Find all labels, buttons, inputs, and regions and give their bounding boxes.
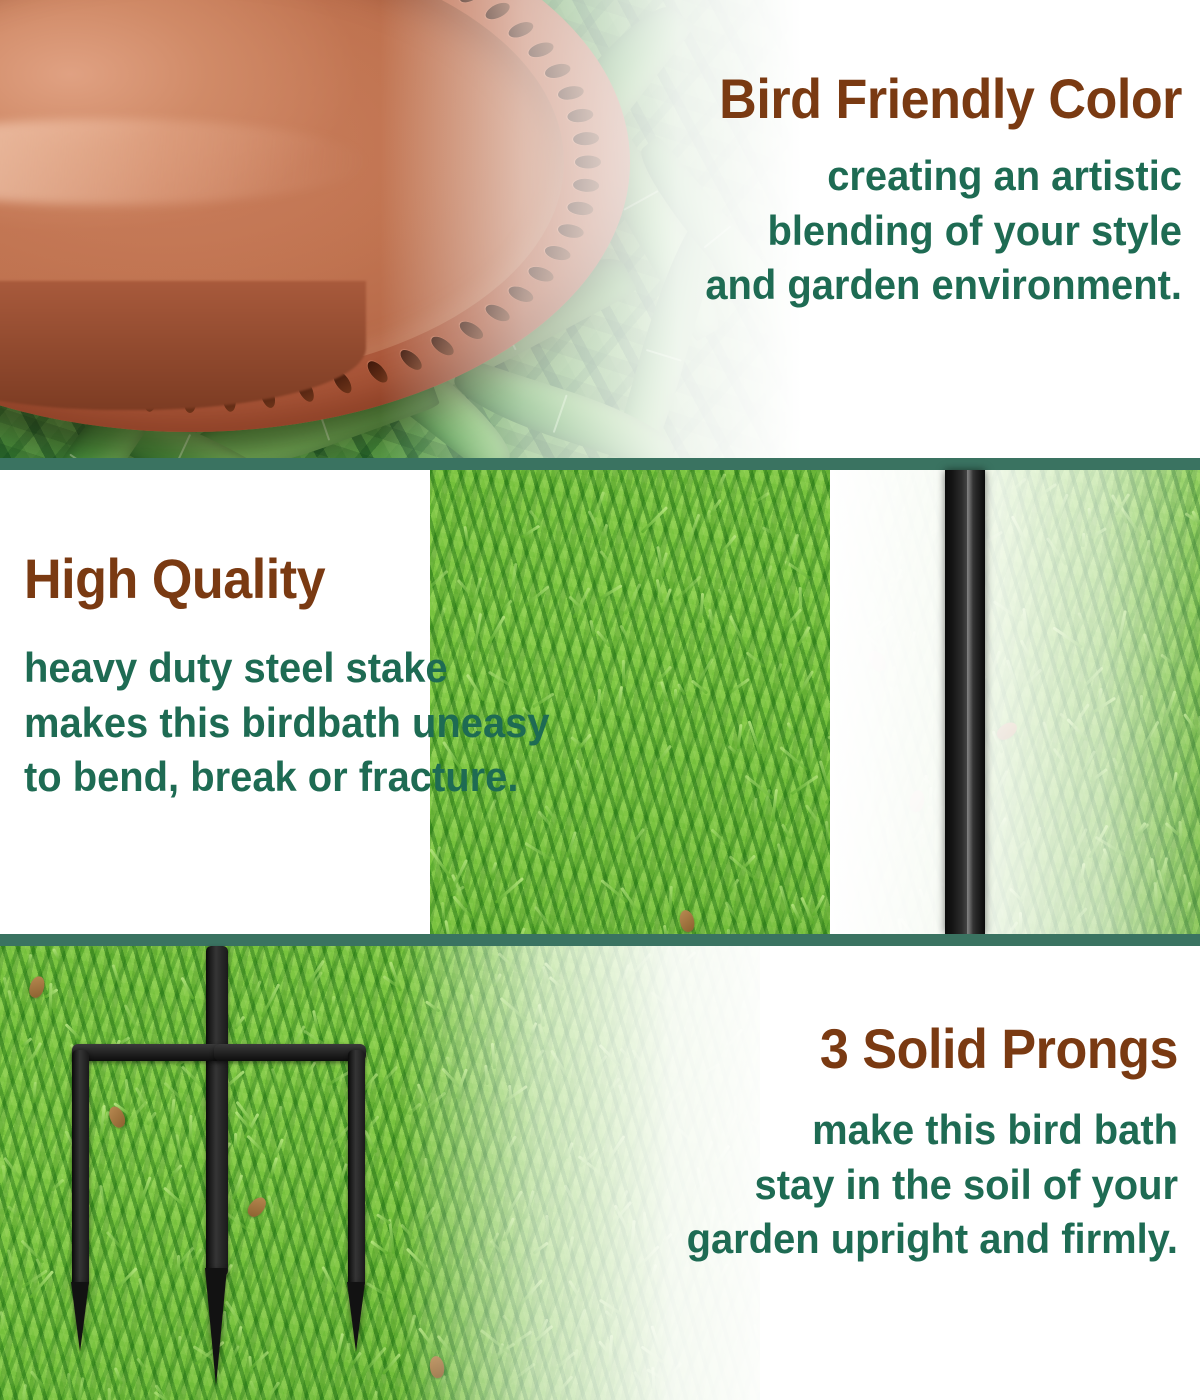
grass-blade <box>787 722 795 734</box>
grass-blade <box>1052 626 1082 648</box>
grass-blade <box>929 787 933 806</box>
grass-blade <box>568 1280 582 1302</box>
grass-blade <box>586 1161 613 1184</box>
grass-blade <box>846 912 857 925</box>
grass-blade <box>780 746 808 771</box>
grass-blade <box>992 770 1008 798</box>
grass-blade <box>827 735 846 748</box>
grass-blade <box>1011 515 1030 549</box>
panel-3-headline: 3 Solid Prongs <box>657 1020 1178 1077</box>
grass-blade <box>1116 610 1127 647</box>
grass-blade <box>812 894 825 916</box>
grass-blade <box>656 579 664 603</box>
grass-blade <box>748 721 762 755</box>
bowl-drain-hole <box>527 40 556 60</box>
bowl-drain-hole <box>544 244 572 263</box>
grass-blade <box>1163 690 1177 724</box>
grass-blade <box>797 670 814 697</box>
grass-blade <box>1184 713 1199 732</box>
grass-blade <box>754 1323 760 1342</box>
panel-1-body-line-3: and garden environment. <box>631 258 1182 313</box>
grass-blade <box>566 1142 574 1159</box>
bowl-drain-hole <box>567 108 594 124</box>
right-arm-horizontal <box>214 1044 366 1061</box>
birdbath-bowl <box>0 0 630 432</box>
grass-blade <box>711 829 729 846</box>
grass-blade <box>720 535 737 554</box>
grass-blade <box>1119 505 1142 536</box>
grass-blade <box>919 888 929 914</box>
center-shaft <box>206 946 228 1276</box>
grass-blade <box>520 525 539 539</box>
grass-blade <box>566 831 577 857</box>
bowl-drain-hole <box>483 301 512 324</box>
feature-text-three-solid-prongs: 3 Solid Prongs make this bird bath stay … <box>618 1020 1178 1267</box>
grass-blade <box>1080 666 1104 691</box>
grass-blade <box>1053 748 1071 771</box>
grass-blade <box>671 1362 683 1375</box>
panel-1-body-line-1: creating an artistic <box>631 149 1182 204</box>
grass-blade <box>675 575 702 600</box>
grass-blade <box>444 920 452 934</box>
grass-blade <box>676 683 685 696</box>
grass-blade <box>1027 826 1041 861</box>
panel-2-body-line-1: heavy duty steel stake <box>24 641 613 696</box>
grass-blade <box>892 666 898 684</box>
grass-blade <box>988 651 1001 680</box>
grass-blade <box>833 587 859 605</box>
feature-text-bird-friendly-color: Bird Friendly Color creating an artistic… <box>602 70 1182 313</box>
grass-blade <box>571 1308 587 1342</box>
grass-blade <box>774 663 782 678</box>
grass-blade <box>825 821 830 844</box>
left-arm-vertical <box>72 1050 89 1288</box>
grass-blade <box>831 524 849 540</box>
grass-blade <box>998 817 1007 830</box>
grass-blade <box>746 651 766 668</box>
panel-2-body-line-3: to bend, break or fracture. <box>24 750 613 805</box>
panel-1-headline: Bird Friendly Color <box>643 70 1182 127</box>
grass-blade <box>796 626 811 647</box>
pole-highlight <box>967 470 973 934</box>
grass-blade <box>729 678 750 694</box>
grass-blade <box>729 878 739 891</box>
grass-blade <box>554 1375 574 1397</box>
panel-2-body-line-2: makes this birdbath uneasy <box>24 696 613 751</box>
panel-3-body-line-3: garden upright and firmly. <box>646 1212 1178 1267</box>
grass-blade <box>999 921 1019 934</box>
pole-body <box>945 470 985 934</box>
grass-blade <box>890 687 894 705</box>
grass-blade <box>728 615 746 646</box>
grass-blade <box>1140 720 1160 752</box>
grass-blade <box>1150 858 1156 883</box>
grass-blade <box>717 588 727 601</box>
grass-blade <box>685 514 701 551</box>
grass-blade <box>651 1326 663 1355</box>
grass-blade <box>1153 882 1159 915</box>
grass-blade <box>594 491 605 517</box>
grass-blade <box>519 1279 542 1305</box>
grass-blade <box>1185 902 1191 915</box>
grass-blade <box>1103 848 1111 864</box>
grass-blade <box>870 827 875 856</box>
panel-divider-top <box>0 458 1200 470</box>
grass-blade <box>528 1049 545 1066</box>
grass-blade <box>1071 828 1088 858</box>
grass-blade <box>779 885 790 913</box>
grass-blade <box>1112 757 1123 776</box>
feature-panel-bird-friendly-color: Bird Friendly Color creating an artistic… <box>0 0 1200 458</box>
grass-blade <box>1094 836 1128 858</box>
grass-blade <box>745 775 775 800</box>
grass-blade <box>762 526 776 536</box>
grass-blade <box>677 950 697 968</box>
grass-blade <box>1079 750 1096 778</box>
grass-blade <box>790 904 802 924</box>
grass-blade <box>809 738 813 773</box>
grass-blade <box>900 918 924 934</box>
grass-blade <box>1069 907 1088 927</box>
panel-2-headline: High Quality <box>24 550 601 607</box>
grass-blade <box>1015 840 1026 851</box>
panel-3-body-line-2: stay in the soil of your <box>646 1158 1178 1213</box>
left-arm-horizontal <box>72 1044 222 1061</box>
grass-blade <box>781 823 792 839</box>
grass-blade <box>799 587 803 623</box>
grass-blade <box>513 927 525 934</box>
grass-blade <box>699 593 704 624</box>
grass-blade <box>1022 608 1029 637</box>
grass-blade <box>870 591 885 621</box>
grass-blade <box>565 1237 575 1266</box>
bowl-drain-hole <box>457 318 486 343</box>
bowl-drain-hole <box>573 131 600 146</box>
grass-blade <box>1056 494 1068 519</box>
grass-blade <box>1087 508 1091 521</box>
grass-blade <box>935 805 944 821</box>
grass-blade <box>871 483 889 501</box>
grass-blade <box>865 634 884 651</box>
bowl-drain-hole <box>506 283 535 305</box>
grass-blade <box>926 529 937 539</box>
center-spike <box>205 1268 227 1386</box>
bowl-drain-hole <box>573 178 600 193</box>
grass-blade <box>863 810 868 832</box>
grass-blade <box>1019 912 1022 933</box>
grass-blade <box>1090 527 1107 539</box>
right-prong-spike <box>347 1282 365 1352</box>
grass-blade <box>753 798 757 822</box>
grass-blade <box>737 723 743 748</box>
grass-blade <box>800 896 815 924</box>
grass-blade <box>883 725 897 756</box>
grass-blade <box>1019 640 1032 663</box>
grass-blade <box>805 804 826 832</box>
grass-blade <box>909 631 917 650</box>
grass-blade <box>870 772 874 808</box>
grass-blade <box>751 991 760 1011</box>
grass-blade <box>706 510 711 523</box>
grass-blade <box>832 616 844 631</box>
grass-blade <box>524 842 555 862</box>
grass-blade <box>708 609 715 628</box>
grass-blade <box>902 827 926 855</box>
grass-blade <box>724 901 740 924</box>
bowl-drain-hole <box>544 61 572 80</box>
feature-text-high-quality: High Quality heavy duty steel stake make… <box>24 550 644 805</box>
grass-blade <box>1004 477 1026 497</box>
bowl-drain-hole <box>527 264 556 284</box>
grass-blade <box>608 1335 613 1371</box>
grass-blade <box>495 877 524 904</box>
grass-blade <box>464 526 470 547</box>
bowl-drain-hole <box>428 333 457 359</box>
right-arm-vertical <box>348 1050 365 1288</box>
grass-blade <box>790 775 818 796</box>
bowl-drain-hole <box>557 84 585 101</box>
left-prong-spike <box>71 1282 89 1352</box>
grass-blade <box>1006 659 1019 691</box>
grass-blade <box>669 886 674 916</box>
grass-blade <box>674 689 677 702</box>
grass-blade <box>660 681 669 702</box>
grass-blade <box>1023 668 1042 688</box>
grass-blade <box>753 492 769 504</box>
bowl-drain-hole <box>575 156 601 169</box>
grass-blade <box>650 991 674 1012</box>
grass-blade <box>771 789 778 822</box>
panel-divider-bottom <box>0 934 1200 946</box>
panel-3-body-line-1: make this bird bath <box>646 1103 1178 1158</box>
grass-blade <box>689 986 692 1012</box>
grass-blade <box>532 1241 549 1255</box>
grass-blade <box>709 499 722 515</box>
bowl-drain-hole <box>483 0 512 23</box>
grass-blade <box>524 1191 534 1220</box>
feature-panel-high-quality: High Quality heavy duty steel stake make… <box>0 470 1200 934</box>
grass-blade <box>490 862 498 877</box>
bowl-drain-hole <box>506 19 535 41</box>
grass-blade <box>825 775 849 805</box>
grass-blade <box>1143 633 1156 665</box>
grass-blade <box>1089 768 1108 783</box>
grass-blade <box>1009 888 1024 903</box>
grass-blade <box>563 1185 581 1214</box>
steel-stake-pole <box>945 470 985 934</box>
grass-blade <box>762 565 772 591</box>
bowl-drain-hole <box>557 222 585 239</box>
grass-blade <box>717 473 727 491</box>
grass-blade <box>1046 538 1067 566</box>
grass-blade <box>819 760 830 789</box>
grass-blade <box>1078 612 1087 625</box>
bowl-drain-hole <box>457 0 486 6</box>
grass-blade <box>926 490 942 514</box>
bowl-drain-hole <box>567 200 594 216</box>
grass-blade <box>1183 874 1192 901</box>
grass-blade <box>655 745 672 766</box>
three-prong-stake <box>0 946 520 1400</box>
grass-blade <box>641 506 668 533</box>
grass-blade <box>777 843 786 870</box>
product-feature-infographic: Bird Friendly Color creating an artistic… <box>0 0 1200 1400</box>
grass-blade <box>534 905 559 934</box>
grass-blade <box>1171 772 1177 793</box>
grass-blade <box>992 600 1022 621</box>
grass-blade <box>1036 483 1057 499</box>
bowl-drain-hole <box>397 346 425 373</box>
grass-blade <box>537 1023 549 1049</box>
bowl-drain-hole <box>364 358 391 386</box>
grass-blade <box>1140 695 1143 718</box>
grass-blade <box>1138 823 1150 835</box>
grass-blade <box>1082 533 1086 547</box>
grass-blade <box>626 828 645 853</box>
grass-blade <box>545 1215 549 1233</box>
grass-blade <box>596 1054 608 1069</box>
grass-blade <box>728 855 758 882</box>
grass-blade <box>646 1368 666 1382</box>
grass-blade <box>657 665 672 682</box>
grass-blade <box>909 869 918 885</box>
grass-blade <box>633 1370 646 1387</box>
grass-blade <box>663 924 668 934</box>
grass-blade <box>1042 721 1055 754</box>
grass-blade <box>550 1050 569 1078</box>
grass-blade <box>1146 540 1150 553</box>
grass-blade <box>1080 863 1086 883</box>
panel-1-body-line-2: blending of your style <box>631 204 1182 259</box>
grass-blade <box>1160 653 1173 664</box>
